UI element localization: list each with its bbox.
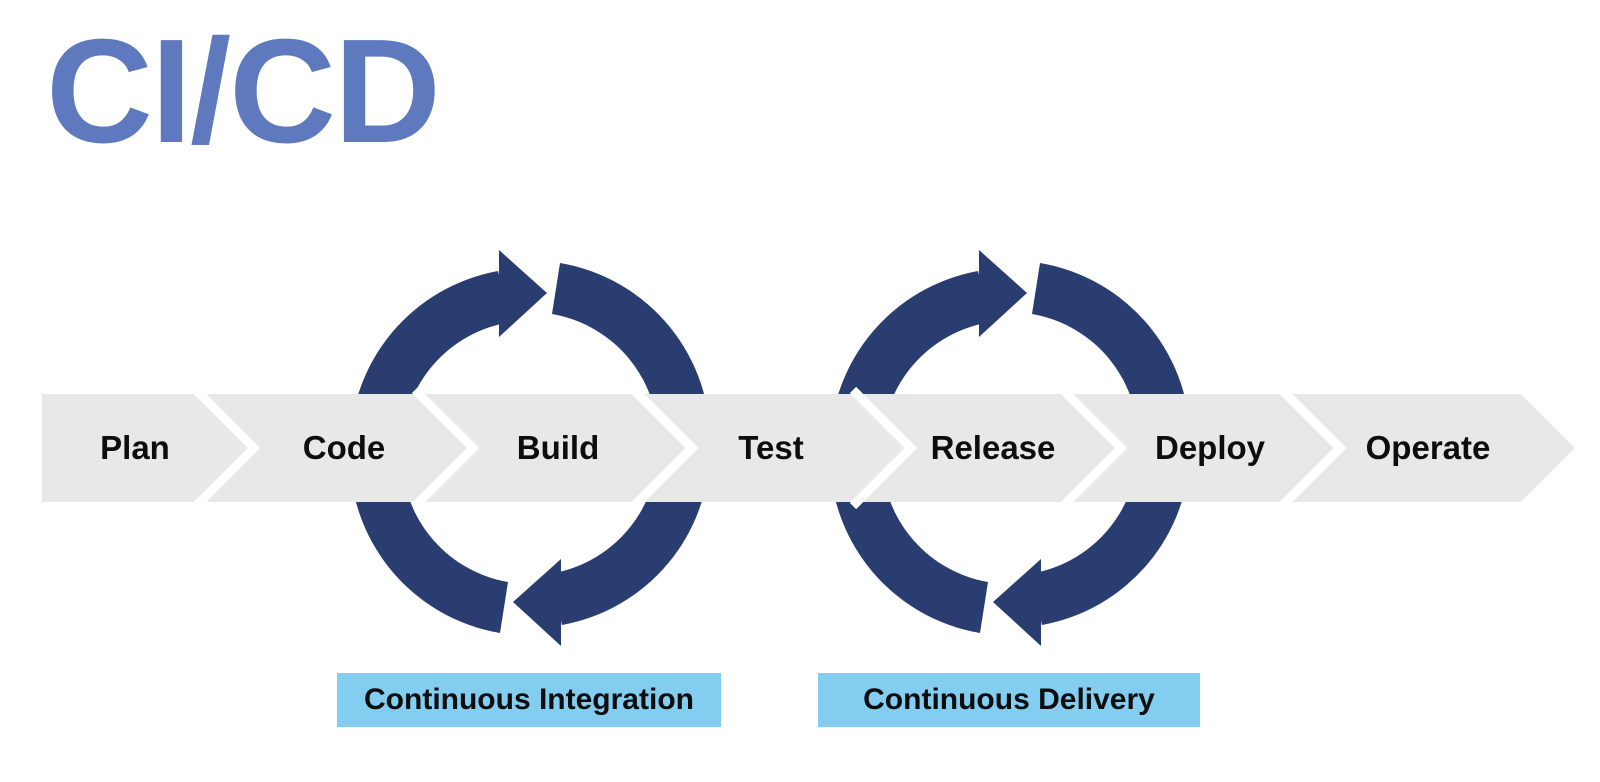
stage-label-release[interactable]: Release: [931, 429, 1056, 467]
stage-label-code[interactable]: Code: [303, 429, 386, 467]
caption-box-continuous-delivery[interactable]: Continuous Delivery: [818, 673, 1200, 727]
stage-label-operate[interactable]: Operate: [1366, 429, 1491, 467]
stage-label-deploy[interactable]: Deploy: [1155, 429, 1265, 467]
caption-label-continuous-delivery: Continuous Delivery: [863, 683, 1155, 717]
stage-label-build[interactable]: Build: [517, 429, 599, 467]
caption-label-continuous-integration: Continuous Integration: [364, 683, 694, 717]
stage-label-test[interactable]: Test: [738, 429, 803, 467]
cicd-diagram: CI/CD: [0, 0, 1600, 782]
pipeline-bar: [0, 0, 1600, 782]
caption-box-continuous-integration[interactable]: Continuous Integration: [337, 673, 721, 727]
stage-label-plan[interactable]: Plan: [100, 429, 170, 467]
